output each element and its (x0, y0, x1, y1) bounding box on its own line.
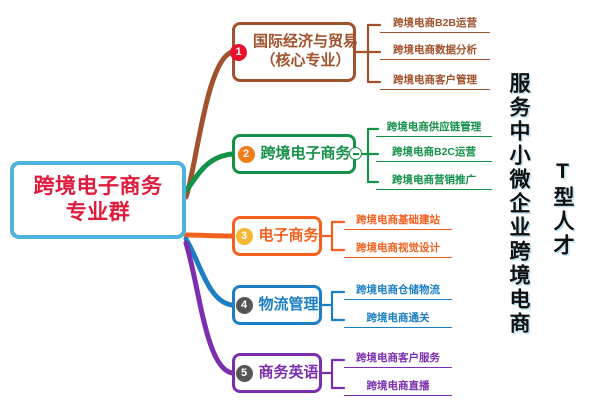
leaf-3-1[interactable]: 跨境电商基础建站 (344, 212, 452, 230)
branch-label-4: 物流管理 (259, 296, 319, 315)
leaf-1-3[interactable]: 跨境电商客户管理 (380, 72, 490, 90)
branch-label-1-line1: 国际经济与贸易 (253, 33, 358, 50)
leaf-4-2[interactable]: 跨境电商通关 (344, 310, 452, 328)
branch-label-2: 跨境电子商务 (261, 145, 351, 164)
side-slogan-sub: T型人才 (552, 160, 573, 258)
branch-node-2[interactable]: 2 跨境电子商务 (232, 134, 356, 174)
leaf-5-2[interactable]: 跨境电商直播 (344, 378, 452, 396)
leaf-4-1[interactable]: 跨境电商仓储物流 (344, 282, 452, 300)
branch-badge-2: 2 (238, 146, 255, 163)
connector-root-to-branch-1 (186, 52, 232, 197)
root-label-line2: 专业群 (66, 200, 131, 226)
connector-root-to-branch-3 (186, 235, 232, 236)
connector-root-to-branch-2 (186, 154, 232, 191)
leaf-2-3[interactable]: 跨境电商营销推广 (376, 172, 492, 190)
branch-node-4[interactable]: 4 物流管理 (232, 285, 322, 325)
branch-label-2-line1: 跨境电子商务 (261, 145, 351, 162)
leaf-3-2[interactable]: 跨境电商视觉设计 (344, 240, 452, 258)
leaf-2-2[interactable]: 跨境电商B2C运营 (376, 144, 492, 162)
branch-label-1: 国际经济与贸易 （核心专业） (253, 33, 358, 71)
leaf-1-1[interactable]: 跨境电商B2B运营 (380, 15, 490, 33)
branch-label-3: 电子商务 (259, 227, 319, 246)
branch-node-1[interactable]: 1 国际经济与贸易 （核心专业） (232, 22, 356, 82)
root-label-line1: 跨境电子商务 (34, 174, 163, 200)
branch-badge-4: 4 (236, 297, 253, 314)
side-slogan-main: 服务中小微企业跨境电商 (508, 72, 529, 336)
branch-label-4-line1: 物流管理 (259, 296, 319, 313)
mindmap-canvas: 跨境电子商务 专业群 1 国际经济与贸易 （核心专业） 跨境电商B2B运营 跨境… (0, 0, 600, 414)
branch-label-5-line1: 商务英语 (259, 364, 319, 381)
branch-label-1-line2: （核心专业） (253, 52, 358, 71)
branch-badge-1: 1 (230, 44, 247, 61)
leaf-5-1[interactable]: 跨境电商客户服务 (344, 350, 452, 368)
leaf-2-1[interactable]: 跨境电商供应链管理 (376, 119, 492, 137)
branch-badge-3: 3 (236, 228, 253, 245)
branch-label-5: 商务英语 (259, 364, 319, 383)
branch-label-3-line1: 电子商务 (259, 227, 319, 244)
root-node[interactable]: 跨境电子商务 专业群 (10, 161, 186, 239)
branch-badge-5: 5 (236, 365, 253, 382)
connector-root-to-branch-4 (186, 239, 232, 305)
connector-root-to-branch-5 (186, 243, 232, 373)
collapse-toggle-branch-2[interactable] (349, 147, 362, 160)
branch-node-5[interactable]: 5 商务英语 (232, 353, 322, 393)
leaf-1-2[interactable]: 跨境电商数据分析 (380, 42, 490, 60)
branch-node-3[interactable]: 3 电子商务 (232, 216, 322, 256)
